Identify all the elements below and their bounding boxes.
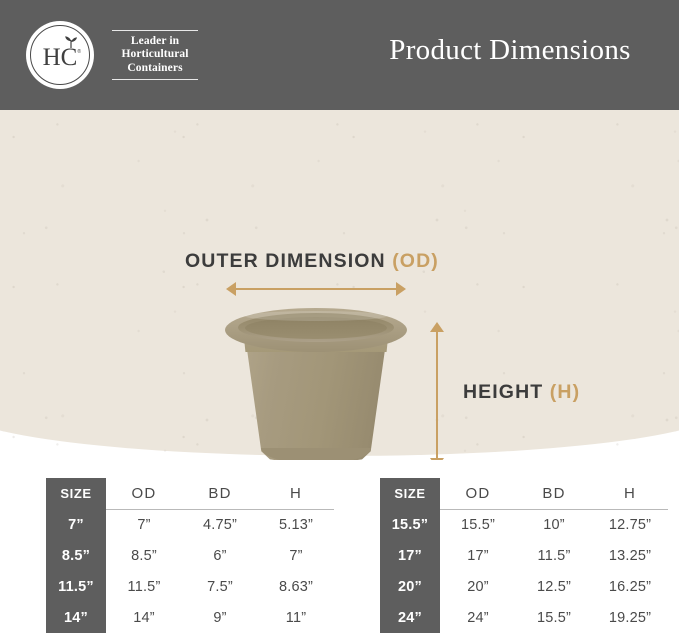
table-row: 7” 7” 4.75” 5.13” [46,509,334,540]
cell-od: 17” [440,540,516,571]
table-row: 11.5” 11.5” 7.5” 8.63” [46,571,334,602]
cell-h: 5.13” [258,509,334,540]
dimension-tables: SIZE OD BD H 7” 7” 4.75” 5.13” 8.5” 8.5”… [0,460,679,636]
cell-h: 11” [258,602,334,633]
cell-h: 16.25” [592,571,668,602]
diagram-panel: OUTER DIMENSION (OD) HEIGHT (H) BASE DIM… [0,110,679,460]
label-height-abbr: (H) [550,381,580,403]
pot-base [261,448,371,460]
cell-bd: 12.5” [516,571,592,602]
table-row: 20” 20” 12.5” 16.25” [380,571,668,602]
tagline-line-1: Leader in [131,35,179,47]
table-body: 15.5” 15.5” 10” 12.75” 17” 17” 11.5” 13.… [380,509,668,633]
table-header-row: SIZE OD BD H [380,478,668,509]
table-row: 24” 24” 15.5” 19.25” [380,602,668,633]
logo-trademark: ® [77,49,81,55]
cell-od: 11.5” [106,571,182,602]
tagline-line-3: Containers [127,62,182,74]
column-header-bd: BD [516,478,592,509]
cell-bd: 7.5” [182,571,258,602]
table-row: 8.5” 8.5” 6” 7” [46,540,334,571]
cell-h: 8.63” [258,571,334,602]
column-header-od: OD [440,478,516,509]
label-outer-dimension: OUTER DIMENSION (OD) [185,250,439,273]
label-outer-dimension-text: OUTER DIMENSION [185,250,392,272]
outer-dimension-arrow-icon [226,282,406,296]
arrow-shaft [436,328,438,460]
cell-bd: 9” [182,602,258,633]
cell-size: 7” [46,509,106,540]
column-header-od: OD [106,478,182,509]
cell-size: 11.5” [46,571,106,602]
cell-od: 15.5” [440,509,516,540]
pot-rim-highlight [245,311,387,321]
label-height-text: HEIGHT [463,381,550,403]
logo-monogram: HC [26,21,94,89]
label-outer-dimension-abbr: (OD) [392,250,439,272]
cell-od: 8.5” [106,540,182,571]
page-title: Product Dimensions [360,34,660,67]
tagline-text: Leader in Horticultural Containers [112,31,198,80]
table-row: 17” 17” 11.5” 13.25” [380,540,668,571]
column-header-size: SIZE [380,478,440,509]
arrow-head-right [396,282,406,296]
cell-h: 13.25” [592,540,668,571]
cell-bd: 6” [182,540,258,571]
cell-od: 20” [440,571,516,602]
brand-lockup: HC ® Leader in Horticultural Containers [26,21,200,89]
label-height: HEIGHT (H) [463,381,580,404]
cell-size: 8.5” [46,540,106,571]
table-header-row: SIZE OD BD H [46,478,334,509]
column-header-bd: BD [182,478,258,509]
tagline-line-2: Horticultural [121,48,188,60]
cell-bd: 10” [516,509,592,540]
hc-logo: HC ® [26,21,94,89]
tagline-rule-bottom [112,79,198,80]
cell-bd: 11.5” [516,540,592,571]
cell-size: 15.5” [380,509,440,540]
column-header-h: H [592,478,668,509]
cell-size: 24” [380,602,440,633]
table-row: 15.5” 15.5” 10” 12.75” [380,509,668,540]
cell-h: 12.75” [592,509,668,540]
table-body: 7” 7” 4.75” 5.13” 8.5” 8.5” 6” 7” 11.5” … [46,509,334,633]
table-row: 14” 14” 9” 11” [46,602,334,633]
page-header: HC ® Leader in Horticultural Containers … [0,0,679,110]
cell-size: 20” [380,571,440,602]
planter-pot-illustration [225,308,407,460]
column-header-size: SIZE [46,478,106,509]
dimension-table-small-sizes: SIZE OD BD H 7” 7” 4.75” 5.13” 8.5” 8.5”… [46,478,334,633]
brand-tagline: Leader in Horticultural Containers [110,30,200,81]
dimension-table-large-sizes: SIZE OD BD H 15.5” 15.5” 10” 12.75” 17” … [380,478,668,633]
cell-od: 14” [106,602,182,633]
arrow-shaft [232,288,400,290]
cell-bd: 15.5” [516,602,592,633]
cell-h: 19.25” [592,602,668,633]
cell-h: 7” [258,540,334,571]
height-arrow-icon [430,322,444,460]
cell-od: 24” [440,602,516,633]
cell-size: 17” [380,540,440,571]
cell-bd: 4.75” [182,509,258,540]
cell-size: 14” [46,602,106,633]
column-header-h: H [258,478,334,509]
cell-od: 7” [106,509,182,540]
